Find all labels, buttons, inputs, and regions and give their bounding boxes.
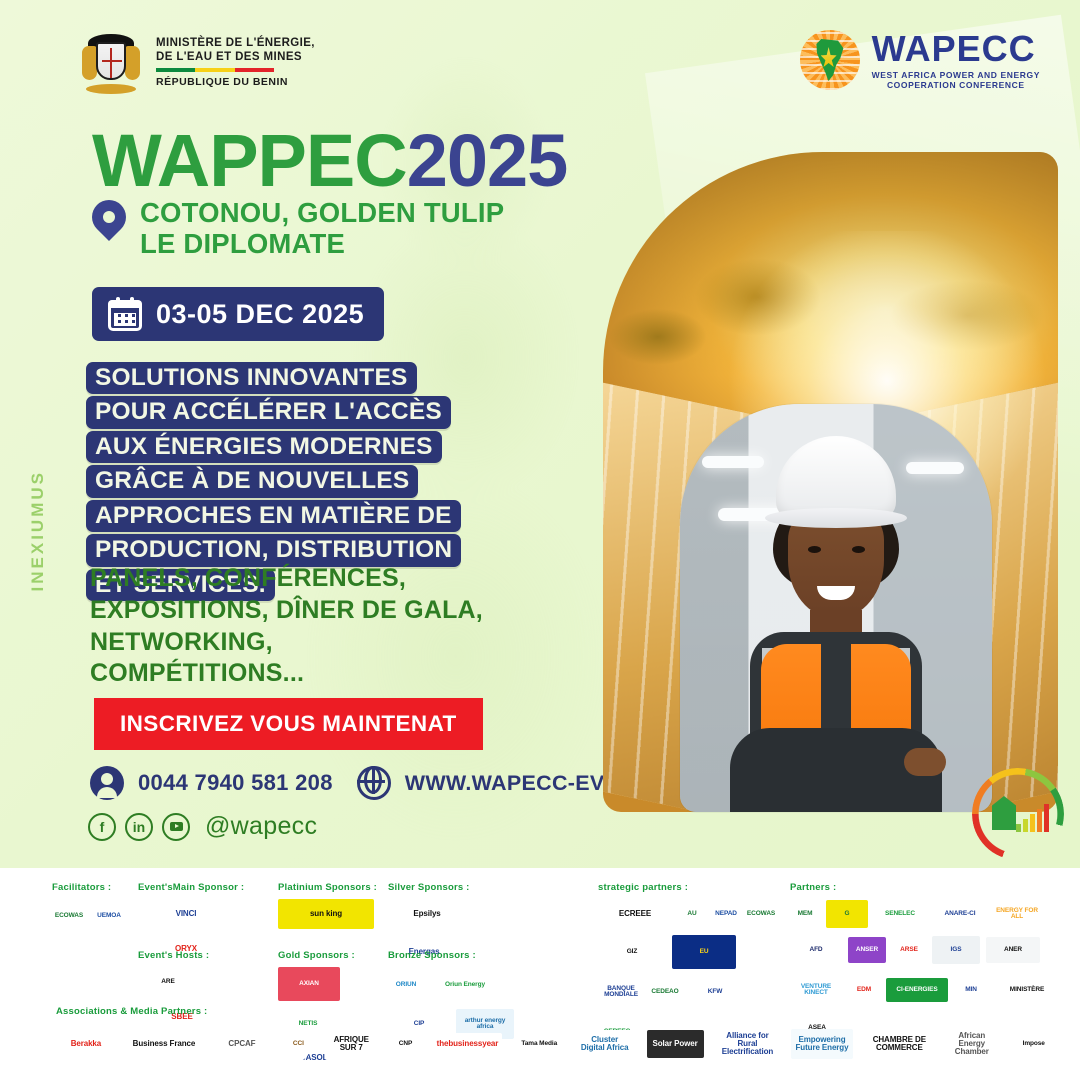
social-row: f in @wapecc [88, 812, 317, 841]
sponsor-logo: Tama Media [516, 1028, 563, 1060]
sponsor-logo: Berakka [56, 1029, 116, 1059]
date-badge: 03-05 DEC 2025 [92, 287, 384, 341]
sponsor-logo: Empowering Future Energy [791, 1029, 852, 1059]
ministry-line-3: RÉPUBLIQUE DU BENIN [156, 76, 315, 88]
sponsor-logo: CNP [392, 1025, 420, 1063]
sponsor-logo: ANER [986, 937, 1040, 963]
sponsor-logo: CHAMBRE DE COMMERCE [867, 1029, 932, 1059]
sponsor-logo: Cluster Digital Africa [577, 1030, 633, 1058]
title-blue-part: 2025 [407, 119, 568, 202]
date-text: 03-05 DEC 2025 [156, 299, 364, 330]
sponsor-logo: G [826, 900, 868, 928]
africa-globe-icon [800, 30, 860, 90]
activities-text: PANELS, CONFÉRENCES, EXPOSITIONS, DÎNER … [90, 563, 490, 690]
sponsor-logo: ENERGY FOR ALL [994, 899, 1040, 929]
ministry-logo-block: MINISTÈRE DE L'ÉNERGIE, DE L'EAU ET DES … [80, 32, 315, 94]
venue-block: COTONOU, GOLDEN TULIP LE DIPLOMATE [92, 198, 504, 260]
sponsor-logo: ECOWAS [746, 899, 776, 929]
sponsor-logo: MIN [954, 975, 988, 1005]
sponsor-logo: BANQUE MONDIALE [598, 975, 644, 1009]
sponsor-group-label: Event's Hosts : [138, 950, 278, 961]
media-partners-group: Associations & Media Partners : BerakkaB… [56, 1006, 1056, 1063]
sponsor-group-label: Event'sMain Sponsor : [138, 882, 268, 893]
sponsor-logo: ECREEE [598, 900, 672, 928]
sponsor-logo: GIZ [598, 937, 666, 967]
sponsor-group-label: Facilitators : [52, 882, 144, 893]
sponsor-logo: thebusinessyear [433, 1033, 501, 1055]
sponsor-logo: UEMOA [92, 899, 126, 933]
sponsor-logo: CEDEAO [650, 977, 680, 1007]
sponsor-logo: IGS [932, 936, 980, 964]
sponsor-group-label: Platinium Sponsors : [278, 882, 388, 893]
ministry-text: MINISTÈRE DE L'ÉNERGIE, DE L'EAU ET DES … [156, 37, 315, 89]
pitch-line: AUX ÉNERGIES MODERNES [86, 431, 442, 463]
sponsor-logo: MEM [790, 899, 820, 929]
sponsor-logo: CI-ENERGIES [886, 978, 948, 1002]
sponsor-logo: VINCI [138, 899, 234, 929]
linkedin-icon[interactable]: in [125, 813, 153, 841]
top-bar: MINISTÈRE DE L'ÉNERGIE, DE L'EAU ET DES … [0, 0, 1080, 112]
sponsor-logo-list: sun king [278, 899, 388, 929]
pitch-line: POUR ACCÉLÉRER L'ACCÈS [86, 396, 451, 428]
sponsor-logo: Solar Power [647, 1030, 704, 1058]
sponsor-logo: ANSER [848, 937, 886, 963]
sponsor-logo: African Energy Chamber [946, 1027, 997, 1061]
sponsor-logo: EDM [848, 971, 880, 1009]
wapecc-name: WAPECC [872, 31, 1040, 67]
sponsor-group-label: Bronze Sponsors : [388, 950, 566, 961]
sponsor-logo: SENELEC [874, 901, 926, 927]
sponsor-group-label: Gold Sponsors : [278, 950, 388, 961]
sponsor-logo: ORIUN [388, 967, 424, 1003]
sponsor-logo: MINISTÈRE [994, 978, 1060, 1002]
ministry-line-1: MINISTÈRE DE L'ÉNERGIE, [156, 37, 315, 51]
venue-text: COTONOU, GOLDEN TULIP LE DIPLOMATE [140, 198, 504, 260]
sponsor-logo-list: ECOWASUEMOA [52, 899, 144, 933]
benin-flag-bar [156, 68, 274, 72]
ministry-line-2: DE L'EAU ET DES MINES [156, 51, 315, 65]
phone-number[interactable]: 0044 7940 581 208 [138, 770, 333, 796]
sponsor-logo: CCI [286, 1027, 311, 1061]
event-poster: MINISTÈRE DE L'ÉNERGIE, DE L'EAU ET DES … [0, 0, 1080, 1080]
pitch-line: APPROCHES EN MATIÈRE DE [86, 500, 461, 532]
hero-section: MINISTÈRE DE L'ÉNERGIE, DE L'EAU ET DES … [0, 0, 1080, 868]
sponsor-logo: AU [678, 900, 706, 928]
sponsor-logo: ARSE [892, 935, 926, 965]
sponsor-logo: AXIAN [278, 967, 340, 1001]
sponsor-footer: Facilitators :ECOWASUEMOAEvent'sMain Spo… [0, 868, 1080, 1080]
sponsor-logo: AFRIQUE SUR 7 [325, 1028, 378, 1060]
sponsor-logo: NEPAD [712, 900, 740, 928]
benin-coat-of-arms-icon [80, 32, 142, 94]
globe-icon [357, 766, 391, 800]
sponsor-group-label: strategic partners : [598, 882, 784, 893]
facebook-icon[interactable]: f [88, 813, 116, 841]
title-green-part: WAPPEC [92, 119, 407, 202]
sponsor-logo: ANARE-CI [932, 901, 988, 927]
vertical-brand-label: INEXIUMUS [28, 470, 48, 591]
media-partners-label: Associations & Media Partners : [56, 1006, 1056, 1017]
wapecc-logo: WAPECC WEST AFRICA POWER AND ENERGY COOP… [800, 30, 1040, 90]
wapecc-tagline-2: COOPERATION CONFERENCE [872, 80, 1040, 90]
youtube-icon[interactable] [162, 813, 190, 841]
sponsor-logo: sun king [278, 899, 374, 929]
venue-line-2: LE DIPLOMATE [140, 229, 504, 260]
sponsor-group: Facilitators :ECOWASUEMOA [52, 882, 144, 933]
sponsor-group-label: Partners : [790, 882, 1062, 893]
sponsor-logo: Oriun Energy [430, 972, 500, 998]
sponsor-group: Platinium Sponsors :sun king [278, 882, 388, 929]
person-icon [90, 766, 124, 800]
pitch-line: SOLUTIONS INNOVANTES [86, 362, 417, 394]
sponsor-logo: Business France [130, 1027, 198, 1061]
venue-line-1: COTONOU, GOLDEN TULIP [140, 198, 504, 229]
calendar-icon [108, 297, 142, 331]
sponsor-group-label: Silver Sponsors : [388, 882, 538, 893]
social-handle[interactable]: @wapecc [205, 812, 317, 841]
sponsor-logo: ARE [138, 967, 198, 997]
page-title: WAPPEC2025 [92, 124, 567, 198]
sponsor-logo: EU [672, 935, 736, 969]
register-now-button[interactable]: INSCRIVEZ VOUS MAINTENAT [94, 698, 483, 750]
sponsor-logo: Epsilys [388, 899, 466, 929]
sponsor-logo: Impose [1011, 1033, 1055, 1055]
wapecc-wordmark: WAPECC WEST AFRICA POWER AND ENERGY COOP… [872, 31, 1040, 90]
pitch-line: PRODUCTION, DISTRIBUTION [86, 534, 461, 566]
wapecc-tagline-1: WEST AFRICA POWER AND ENERGY [872, 70, 1040, 80]
energy-efficiency-rating-icon [972, 768, 1064, 860]
sponsor-logo: Alliance for Rural Electrification [718, 1029, 778, 1059]
female-engineer-hardhat-photo [680, 404, 992, 812]
sponsor-logo: ECOWAS [52, 899, 86, 933]
sponsor-logo: CPCAF [212, 1029, 272, 1059]
location-pin-icon [92, 200, 126, 244]
pitch-line: GRÂCE À DE NOUVELLES [86, 465, 418, 497]
sponsor-logo: KFW [686, 978, 744, 1006]
sponsor-logo: VENTURE KINECT [790, 977, 842, 1003]
sponsor-logo: AFD [790, 937, 842, 963]
